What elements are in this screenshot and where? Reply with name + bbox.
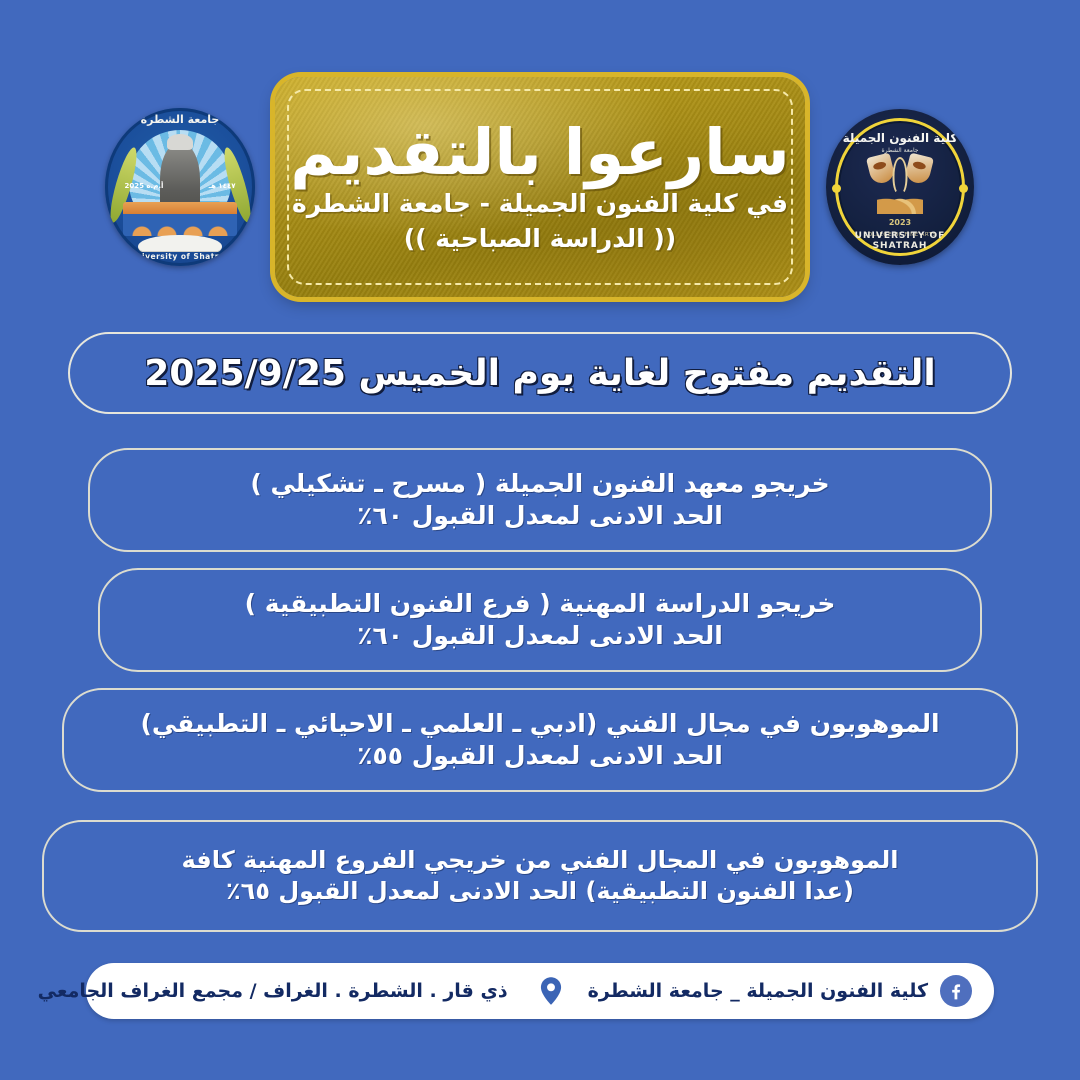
right-logo-slot: كلية الفنون الجميلة جامعة الشطرة 2023 CO…	[805, 109, 995, 265]
banner-subtitle-college: في كلية الفنون الجميلة - جامعة الشطرة	[292, 190, 788, 219]
theatre-mask-left-icon	[866, 153, 896, 186]
admission-row-4: الموهوبون في المجال الفني من خريجي الفرو…	[42, 820, 1038, 932]
university-seal-year-left: أ.م.ه 2025	[125, 182, 164, 191]
address-text: ذي قار . الشطرة . الغراف / مجمع الغراف ا…	[38, 980, 508, 1002]
open-book-icon	[138, 235, 222, 252]
admission-row-3: الموهوبون في مجال الفني (ادبي ـ العلمي ـ…	[62, 688, 1018, 792]
university-seal-year-right: ١٤٤٧ هـ	[209, 182, 236, 191]
university-seal-english-name: University of Shatrah	[105, 252, 255, 261]
poster-root: كلية الفنون الجميلة جامعة الشطرة 2023 CO…	[0, 0, 1080, 1080]
theatre-mask-right-icon	[904, 153, 934, 186]
college-seal-bottom-line-2: UNIVERSITY OF SHATRAH	[826, 231, 974, 251]
footer-contact-bar: كلية الفنون الجميلة _ جامعة الشطرة ذي قا…	[86, 963, 994, 1019]
admission-row-3-category: الموهوبون في مجال الفني (ادبي ـ العلمي ـ…	[140, 708, 939, 741]
facebook-page-name[interactable]: كلية الفنون الجميلة _ جامعة الشطرة	[588, 980, 928, 1002]
banner-headline: سارعوا بالتقديم	[290, 120, 789, 186]
poster-header: كلية الفنون الجميلة جامعة الشطرة 2023 CO…	[0, 62, 1080, 312]
college-of-fine-arts-seal: كلية الفنون الجميلة جامعة الشطرة 2023 CO…	[826, 109, 974, 265]
location-pin-icon	[540, 977, 562, 1005]
admission-row-2: خريجو الدراسة المهنية ( فرع الفنون التطب…	[98, 568, 982, 672]
application-deadline-text: التقديم مفتوح لغاية يوم الخميس 2025/9/25	[144, 353, 935, 394]
admission-row-3-minimum: الحد الادنى لمعدل القبول ٥٥٪	[357, 740, 723, 773]
application-deadline-pill: التقديم مفتوح لغاية يوم الخميس 2025/9/25	[68, 332, 1012, 414]
university-of-shatrah-seal: جامعة الشطرة أ.م.ه 2025 ١٤٤٧ هـ Universi…	[105, 108, 255, 266]
bridge-icon	[123, 202, 237, 236]
music-clef-icon	[893, 157, 908, 195]
admission-row-1-category: خريجو معهد الفنون الجميلة ( مسرح ـ تشكيل…	[250, 468, 829, 501]
admission-row-4-category: الموهوبون في المجال الفني من خريجي الفرو…	[181, 845, 898, 876]
facebook-icon[interactable]	[940, 975, 972, 1007]
college-seal-title: كلية الفنون الجميلة	[826, 131, 974, 145]
admission-row-4-minimum: (عدا الفنون التطبيقية) الحد الادنى لمعدل…	[226, 876, 854, 907]
banner-subtitle-study-mode: (( الدراسة الصباحية ))	[404, 224, 677, 254]
university-seal-title: جامعة الشطرة	[105, 113, 255, 126]
admission-row-2-category: خريجو الدراسة المهنية ( فرع الفنون التطب…	[245, 588, 836, 621]
admission-row-1-minimum: الحد الادنى لمعدل القبول ٦٠٪	[357, 500, 723, 533]
left-logo-slot: جامعة الشطرة أ.م.ه 2025 ١٤٤٧ هـ Universi…	[85, 108, 275, 266]
college-seal-year: 2023	[826, 218, 974, 227]
laurel-leaves-icon	[877, 192, 923, 214]
arts-emblem-icon	[869, 153, 931, 211]
gold-headline-banner: سارعوا بالتقديم في كلية الفنون الجميلة -…	[275, 77, 805, 297]
admission-row-1: خريجو معهد الفنون الجميلة ( مسرح ـ تشكيل…	[88, 448, 992, 552]
admission-row-2-minimum: الحد الادنى لمعدل القبول ٦٠٪	[357, 620, 723, 653]
